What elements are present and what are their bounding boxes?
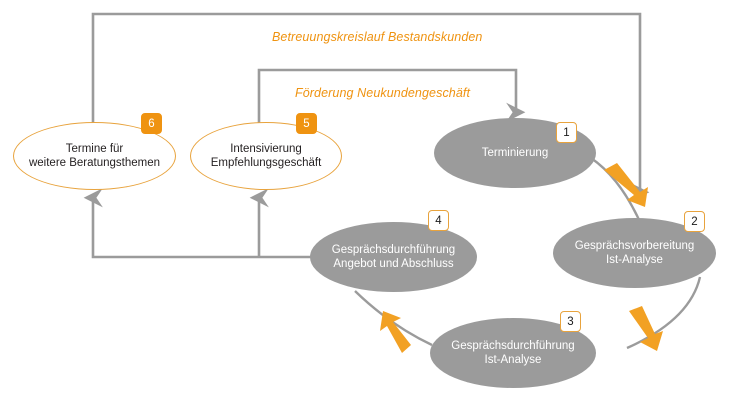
node-3-label: Gesprächsdurchführung Ist-Analyse	[443, 339, 582, 367]
badge-1: 1	[556, 122, 577, 143]
badge-5: 5	[296, 113, 317, 134]
node-5-label: Intensivierung Empfehlungsgeschäft	[203, 142, 330, 170]
outer-cycle-label: Betreuungskreislauf Bestandskunden	[272, 30, 482, 44]
node-4-gespraechsdurchfuehrung-angebot[interactable]: Gesprächsdurchführung Angebot und Abschl…	[310, 222, 477, 292]
connector-layer	[0, 0, 732, 400]
badge-3: 3	[560, 311, 581, 332]
diagram-canvas: Betreuungskreislauf Bestandskunden Förde…	[0, 0, 732, 400]
node-6-label: Termine für weitere Beratungsthemen	[21, 142, 168, 170]
node-4-label: Gesprächsdurchführung Angebot und Abschl…	[324, 243, 463, 271]
badge-4: 4	[428, 210, 449, 231]
badge-6: 6	[141, 113, 162, 134]
badge-2: 2	[684, 211, 705, 232]
node-5-intensivierung[interactable]: Intensivierung Empfehlungsgeschäft	[190, 122, 342, 190]
connector-4-to-6-path	[93, 198, 311, 257]
arrow-1-to-2-icon	[604, 163, 648, 207]
node-2-label: Gesprächsvorbereitung Ist-Analyse	[567, 239, 703, 267]
node-1-label: Terminierung	[474, 146, 556, 160]
inner-cycle-label: Förderung Neukundengeschäft	[295, 86, 470, 100]
